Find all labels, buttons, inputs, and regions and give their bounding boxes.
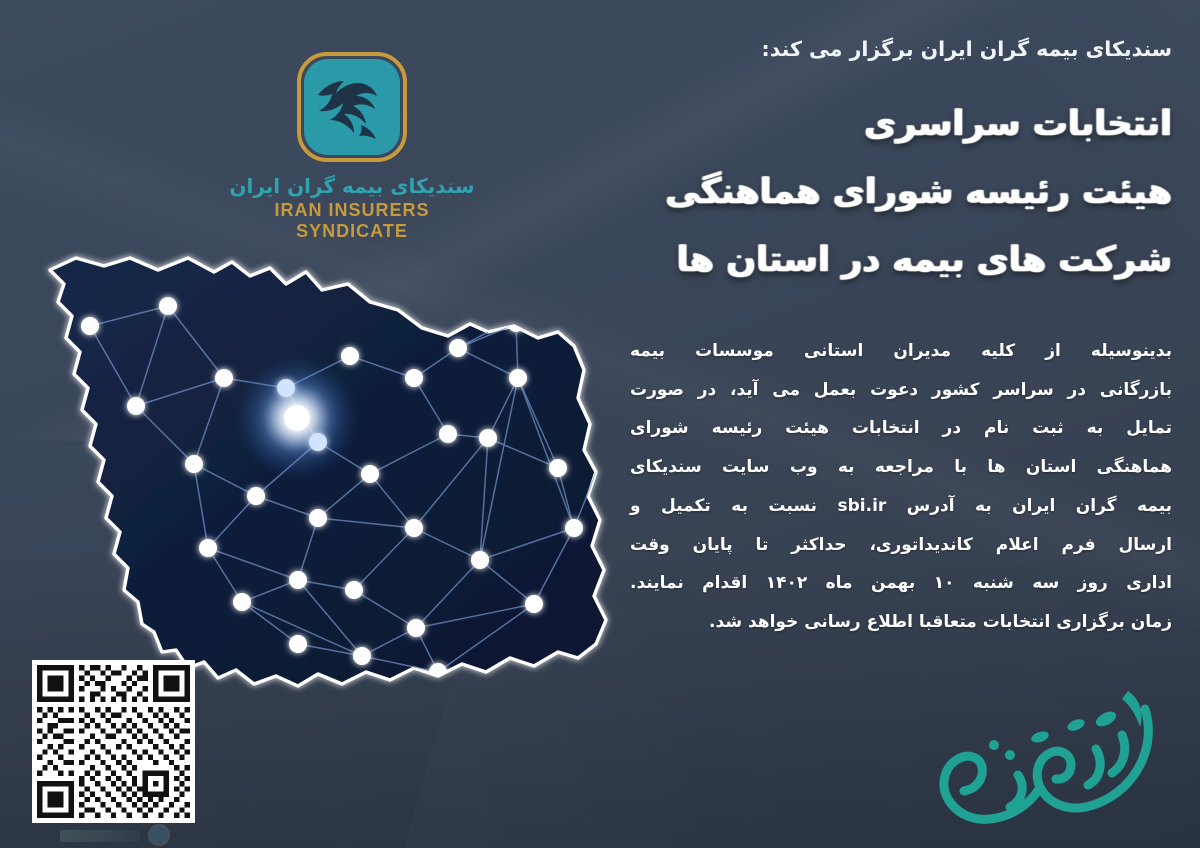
headline-line-3: شرکت های بیمه در استان ها [632, 243, 1172, 278]
body-line-7-deadline: اداری روز سه شنبه ۱۰ بهمن ماه ۱۴۰۲ اقدام… [630, 564, 1172, 603]
watermark-sefheh-eghtesad [890, 679, 1190, 844]
map-node-tehran [235, 356, 359, 480]
body-line-5-before: بیمه گران ایران به آدرس [907, 496, 1172, 516]
qr-footer-emblem-icon [148, 824, 170, 846]
headline-line-2: هیئت رئیسه شورای هماهنگی [632, 175, 1172, 210]
body-line-3: تمایل به ثبت نام در انتخابات هیئت رئیسه … [630, 409, 1172, 448]
headline: انتخابات سراسری هیئت رئیسه شورای هماهنگی… [626, 107, 1172, 278]
map-land [50, 258, 606, 686]
qr-code[interactable] [32, 660, 195, 823]
body-line-6: ارسال فرم اعلام کاندیداتوری، حداکثر تا پ… [630, 526, 1172, 565]
qr-footer-text-blur [60, 830, 140, 842]
emblem-ring [297, 52, 407, 162]
website-url[interactable]: sbi.ir [838, 496, 887, 516]
poster-root: سندیکای بیمه گران ایران IRAN INSURERS SY… [0, 0, 1200, 848]
eagle-emblem-icon [297, 52, 407, 162]
qr-footer-logo [30, 826, 210, 848]
body-line-5-after: نسبت به تکمیل و [630, 496, 817, 516]
body-line-8-note: زمان برگزاری انتخابات متعاقبا اطلاع رسان… [630, 603, 1172, 642]
kicker-text: سندیکای بیمه گران ایران برگزار می کند: [626, 34, 1172, 65]
headline-line-1: انتخابات سراسری [632, 107, 1172, 142]
body-line-4: هماهنگی استان ها با مراجعه به وب سایت سن… [630, 448, 1172, 487]
syndicate-logo: سندیکای بیمه گران ایران IRAN INSURERS SY… [222, 52, 482, 242]
body-line-5: بیمه گران ایران به آدرس sbi.ir نسبت به ت… [630, 487, 1172, 526]
body-line-2: بازرگانی در سراسر کشور دعوت بعمل می آید،… [630, 371, 1172, 410]
body-paragraph: بدینوسیله از کلیه مدیران استانی موسسات ب… [626, 332, 1172, 642]
body-line-1: بدینوسیله از کلیه مدیران استانی موسسات ب… [630, 332, 1172, 371]
logo-name-fa: سندیکای بیمه گران ایران [222, 174, 482, 198]
content-column: سندیکای بیمه گران ایران برگزار می کند: ا… [626, 0, 1172, 642]
